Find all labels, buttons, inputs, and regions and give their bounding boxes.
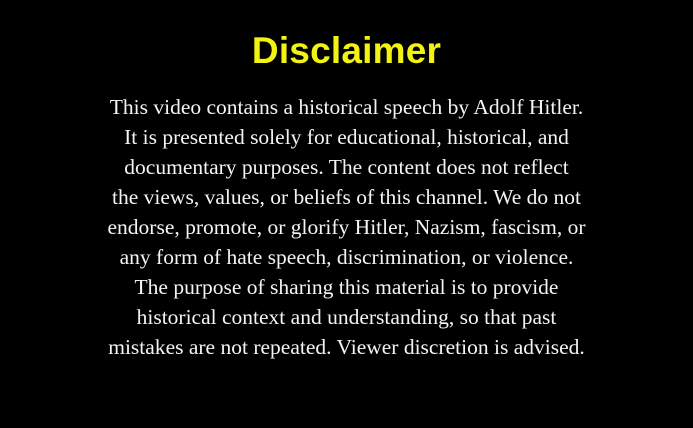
disclaimer-line: endorse, promote, or glorify Hitler, Naz… (24, 212, 670, 242)
disclaimer-line: The purpose of sharing this material is … (24, 272, 670, 302)
disclaimer-line: documentary purposes. The content does n… (24, 152, 670, 182)
page-title: Disclaimer (0, 31, 693, 71)
disclaimer-line: mistakes are not repeated. Viewer discre… (24, 332, 670, 362)
disclaimer-line: It is presented solely for educational, … (24, 122, 670, 152)
disclaimer-body: This video contains a historical speech … (24, 92, 670, 362)
disclaimer-line: historical context and understanding, so… (24, 302, 670, 332)
disclaimer-line: This video contains a historical speech … (24, 92, 670, 122)
disclaimer-line: the views, values, or beliefs of this ch… (24, 182, 670, 212)
disclaimer-slide: Disclaimer This video contains a histori… (0, 0, 693, 428)
disclaimer-line: any form of hate speech, discrimination,… (24, 242, 670, 272)
